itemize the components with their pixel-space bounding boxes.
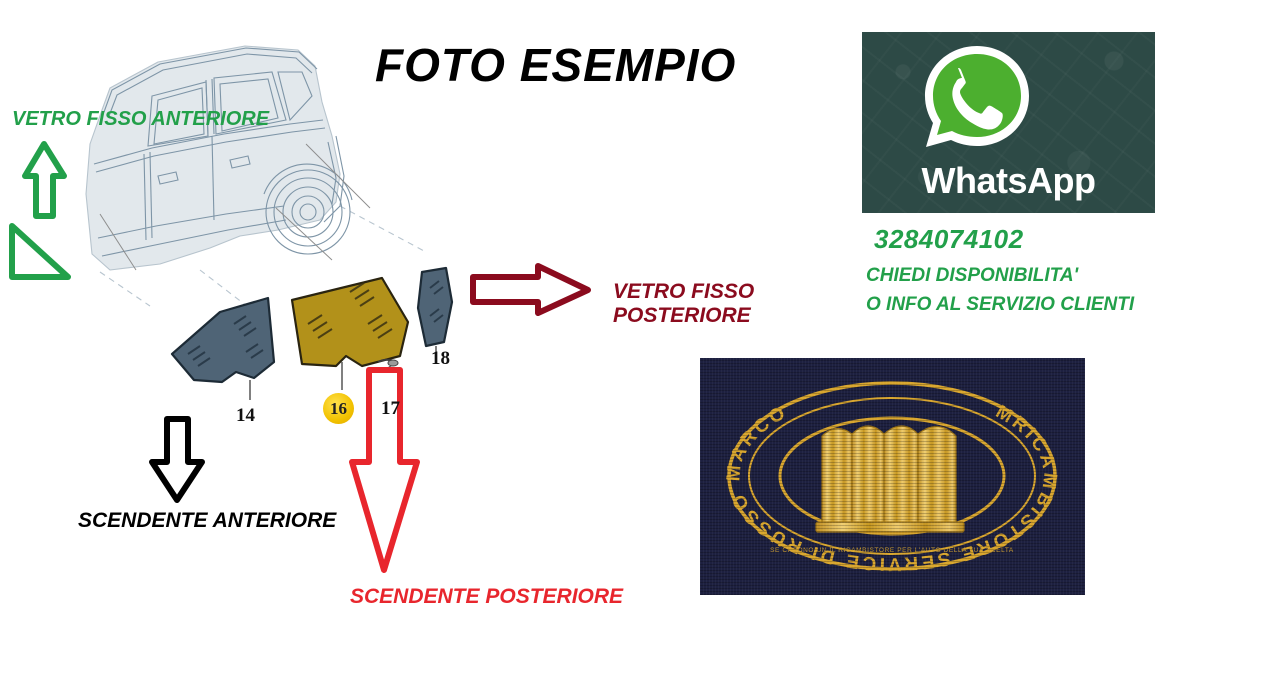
part-number-14: 14: [236, 405, 255, 427]
phone-number[interactable]: 3284074102: [874, 224, 1024, 255]
part-number-17: 17: [381, 398, 400, 420]
whatsapp-banner[interactable]: WhatsApp: [862, 32, 1155, 213]
label-scendente-anteriore: SCENDENTE ANTERIORE: [78, 509, 336, 533]
whatsapp-phone-bubble-icon: [917, 40, 1037, 160]
right-arrow-icon: [473, 266, 588, 313]
shop-logo-tagline: SE CI SONO UN IL RICAMBISTORE PER L'AUTO…: [770, 547, 1014, 554]
contact-line-2: O INFO AL SERVIZIO CLIENTI: [866, 294, 1134, 316]
page-title: FOTO ESEMPIO: [375, 38, 736, 92]
part-number-badge-16: 16: [323, 393, 354, 424]
shop-logo-ring-text: MRICAMBISTORE SERVICE DI RUSSO MARCO: [723, 401, 1060, 574]
label-vetro-fisso-posteriore-line2: POSTERIORE: [613, 304, 754, 328]
contact-line-1: CHIEDI DISPONIBILITA': [866, 265, 1078, 287]
label-scendente-posteriore: SCENDENTE POSTERIORE: [350, 585, 623, 609]
label-vetro-fisso-posteriore: VETRO FISSO POSTERIORE: [613, 280, 754, 328]
label-vetro-fisso-anteriore: VETRO FISSO ANTERIORE: [12, 108, 269, 131]
whatsapp-wordmark: WhatsApp: [862, 160, 1155, 202]
label-vetro-fisso-posteriore-line1: VETRO FISSO: [613, 280, 754, 304]
part-14-shape: [172, 298, 274, 400]
part-17-shape: [378, 360, 398, 390]
shop-logo: MRICAMBISTORE SERVICE DI RUSSO MARCO SE …: [700, 358, 1085, 595]
shop-logo-artwork: MRICAMBISTORE SERVICE DI RUSSO MARCO SE …: [700, 358, 1085, 595]
part-number-18: 18: [431, 348, 450, 370]
